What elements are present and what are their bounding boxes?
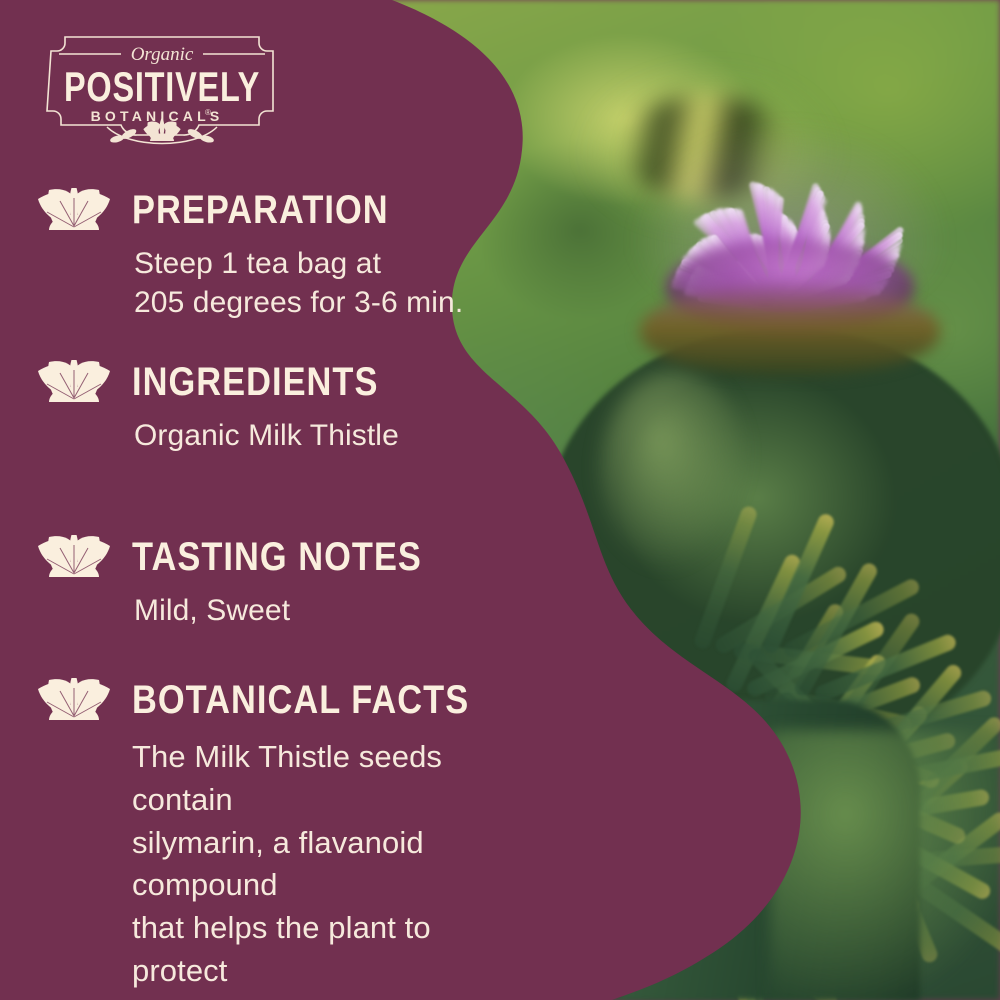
section-preparation: PREPARATION Steep 1 tea bag at 205 degre…: [38, 188, 463, 322]
section-body: Mild, Sweet: [134, 591, 469, 630]
logo-name: POSITIVELY: [64, 63, 260, 110]
section-header: TASTING NOTES: [38, 535, 469, 579]
fan-shell-icon: [38, 360, 110, 404]
info-content: Organic POSITIVELY BOTANICALS ®: [0, 0, 520, 1000]
section-header: PREPARATION: [38, 188, 463, 232]
section-header: BOTANICAL FACTS: [38, 678, 524, 722]
section-body: The Milk Thistle seeds contain silymarin…: [132, 736, 524, 1000]
logo-badge: Organic POSITIVELY BOTANICALS ®: [33, 27, 291, 160]
logo-eyebrow: Organic: [131, 44, 194, 65]
fan-shell-icon: [38, 678, 110, 722]
fan-shell-icon: [38, 535, 110, 579]
logo-registered-mark: ®: [205, 108, 211, 117]
section-title: PREPARATION: [132, 190, 389, 230]
section-tasting-notes: TASTING NOTES Mild, Sweet: [38, 535, 469, 630]
section-botanical-facts: BOTANICAL FACTS The Milk Thistle seeds c…: [38, 678, 524, 1000]
logo-subtitle: BOTANICALS: [91, 108, 224, 124]
section-body: Organic Milk Thistle: [134, 416, 419, 455]
section-body: Steep 1 tea bag at 205 degrees for 3-6 m…: [134, 244, 463, 322]
section-title: BOTANICAL FACTS: [132, 680, 469, 720]
section-ingredients: INGREDIENTS Organic Milk Thistle: [38, 360, 419, 455]
product-info-card: Organic POSITIVELY BOTANICALS ®: [0, 0, 1000, 1000]
section-title: TASTING NOTES: [132, 537, 422, 577]
section-header: INGREDIENTS: [38, 360, 419, 404]
brand-logo[interactable]: Organic POSITIVELY BOTANICALS ®: [33, 27, 291, 160]
fan-shell-icon: [38, 188, 110, 232]
section-title: INGREDIENTS: [132, 362, 378, 402]
